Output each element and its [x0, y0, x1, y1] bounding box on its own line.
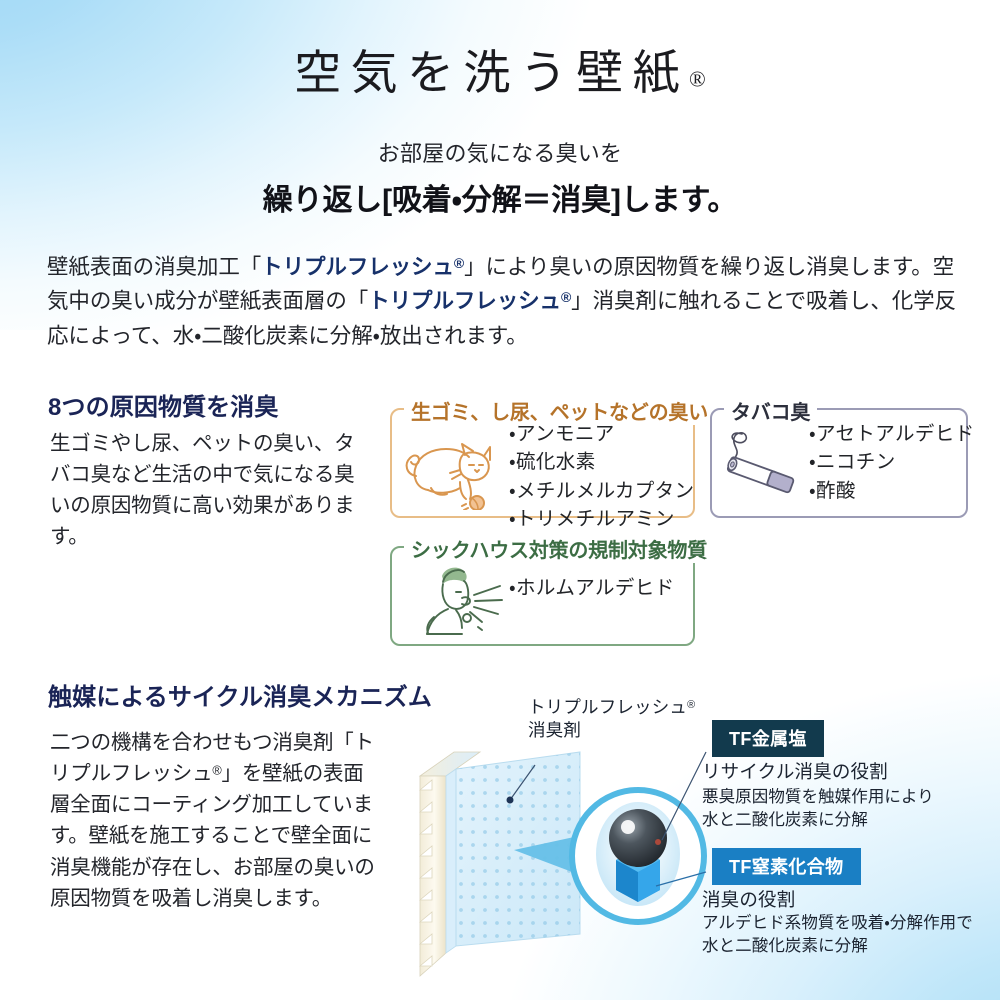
section-heading-mechanism: 触媒によるサイクル消臭メカニズム: [48, 677, 432, 712]
callout-role-tf-metal-salt: リサイクル消臭の役割: [702, 758, 888, 784]
list-item: ・メチルメルカプタン: [509, 477, 694, 505]
odor-box-tobacco-legend: タバコ臭: [724, 396, 817, 425]
badge-tf-metal-salt: TF金属塩: [712, 720, 824, 757]
diagram-label-triplefresh-line2: 消臭剤: [528, 720, 581, 740]
odor-list-pet: ・アンモニア ・硫化水素 ・メチルメルカプタン ・トリメチルアミン: [509, 420, 694, 534]
odor-list-sickhouse: ・ホルムアルデヒド: [509, 574, 675, 602]
hero-section: 空気を洗う壁紙® お部屋の気になる臭いを 繰り返し[吸着・分解＝消臭]します。: [0, 0, 1000, 219]
cat-icon: [398, 424, 510, 515]
intro-text-part1: 壁紙表面の消臭加工「: [47, 255, 261, 279]
badge-tf-nitrogen-compound: TF窒素化合物: [712, 848, 861, 885]
brand-name-1-text: トリプルフレッシュ: [261, 255, 454, 279]
list-item: ・酢酸: [809, 477, 975, 505]
tf-metal-salt-sphere: [609, 809, 667, 867]
section-body-mechanism: 二つの機構を合わせもつ消臭剤「トリプルフレッシュ®」を壁紙の表面層全面にコーティ…: [50, 727, 380, 914]
list-item: ・アセトアルデヒド: [809, 420, 975, 448]
coughing-person-icon: [412, 562, 508, 645]
list-item: ・ニコチン: [809, 448, 975, 476]
list-item: ・ホルムアルデヒド: [509, 574, 675, 602]
callout-role-tf-nitrogen-compound: 消臭の役割: [702, 886, 795, 912]
registered-trademark-icon: ®: [689, 66, 706, 91]
brand-name-2: トリプルフレッシュ®: [368, 289, 571, 313]
diagram-label-triplefresh: トリプルフレッシュ®消臭剤: [528, 696, 695, 742]
hero-subtitle-line2: 繰り返し[吸着・分解＝消臭]します。: [0, 168, 1000, 219]
page-title: 空気を洗う壁紙®: [0, 0, 1000, 102]
odor-box-sickhouse: シックハウス対策の規制対象物質: [390, 546, 695, 646]
list-item: ・硫化水素: [509, 448, 694, 476]
odor-box-tobacco: タバコ臭 ・アセトアルデヒド ・ニコチン ・酢酸: [710, 408, 968, 518]
section-heading-odor: 8つの原因物質を消臭: [48, 387, 279, 422]
odor-box-sickhouse-legend: シックハウス対策の規制対象物質: [404, 534, 714, 563]
list-item: ・アンモニア: [509, 420, 694, 448]
mechanism-diagram: トリプルフレッシュ®消臭剤 TF金属塩 リサイクル消臭の役割 悪臭原因物質を触媒…: [400, 690, 1000, 980]
brand-name-1: トリプルフレッシュ®: [261, 255, 464, 279]
list-item: ・トリメチルアミン: [509, 505, 694, 533]
callout-desc-tf-nitrogen-compound: アルデヒド系物質を吸着・分解作用で 水と二酸化炭素に分解: [702, 912, 973, 959]
registered-trademark-icon: ®: [212, 763, 221, 778]
section-body-odor: 生ゴミやし尿、ペットの臭い、タバコ臭など生活の中で気になる臭いの原因物質に高い効…: [50, 428, 360, 553]
registered-trademark-icon: ®: [454, 255, 464, 271]
hero-subtitle-line1: お部屋の気になる臭いを: [0, 102, 1000, 168]
callout-desc-tf-metal-salt: 悪臭原因物質を触媒作用により 水と二酸化炭素に分解: [702, 786, 934, 833]
wallpaper-cross-section-illustration: [410, 738, 710, 1000]
page-title-text: 空気を洗う壁紙: [294, 48, 689, 100]
registered-trademark-icon: ®: [561, 289, 571, 305]
brand-name-2-text: トリプルフレッシュ: [368, 289, 561, 313]
odor-box-pet: 生ゴミ、し尿、ペットなどの臭い: [390, 408, 695, 518]
intro-paragraph: 壁紙表面の消臭加工「トリプルフレッシュ®」により臭いの原因物質を繰り返し消臭しま…: [47, 250, 957, 354]
infographic-page: 空気を洗う壁紙® お部屋の気になる臭いを 繰り返し[吸着・分解＝消臭]します。 …: [0, 0, 1000, 1000]
diagram-label-triplefresh-line1: トリプルフレッシュ: [528, 697, 687, 717]
registered-trademark-icon: ®: [687, 699, 695, 711]
cigarette-icon: [720, 426, 806, 503]
odor-list-tobacco: ・アセトアルデヒド ・ニコチン ・酢酸: [809, 420, 975, 505]
